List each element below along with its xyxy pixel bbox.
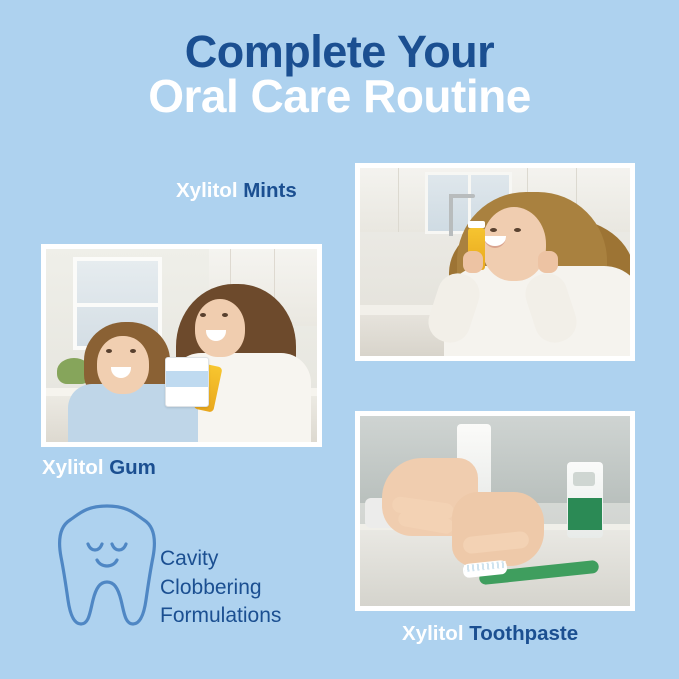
badge-text-line-2: Clobbering [160, 574, 281, 603]
page-title: Complete Your Oral Care Routine [0, 30, 679, 119]
label-gum-white: Xylitol [42, 456, 109, 479]
label-xylitol-gum: Xylitol Gum [42, 456, 156, 480]
label-xylitol-mints: Xylitol Mints [176, 179, 297, 203]
photo-xylitol-toothpaste [355, 411, 635, 611]
page-title-line-2: Oral Care Routine [0, 74, 679, 119]
photo-xylitol-mints [355, 163, 635, 361]
page-title-line-1: Complete Your [0, 30, 679, 74]
label-mints-white: Xylitol [176, 179, 243, 202]
badge-text-line-3: Formulations [160, 602, 281, 631]
label-xylitol-toothpaste: Xylitol Toothpaste [402, 622, 578, 646]
label-toothpaste-blue: Toothpaste [469, 622, 578, 645]
badge-text: Cavity Clobbering Formulations [160, 545, 281, 631]
photo-xylitol-gum [41, 244, 322, 447]
label-gum-blue: Gum [109, 456, 156, 479]
poster-canvas: Complete Your Oral Care Routine Xylitol … [0, 0, 679, 679]
badge-text-line-1: Cavity [160, 545, 281, 574]
label-toothpaste-white: Xylitol [402, 622, 469, 645]
label-mints-blue: Mints [243, 179, 297, 202]
tooth-icon [52, 500, 162, 630]
